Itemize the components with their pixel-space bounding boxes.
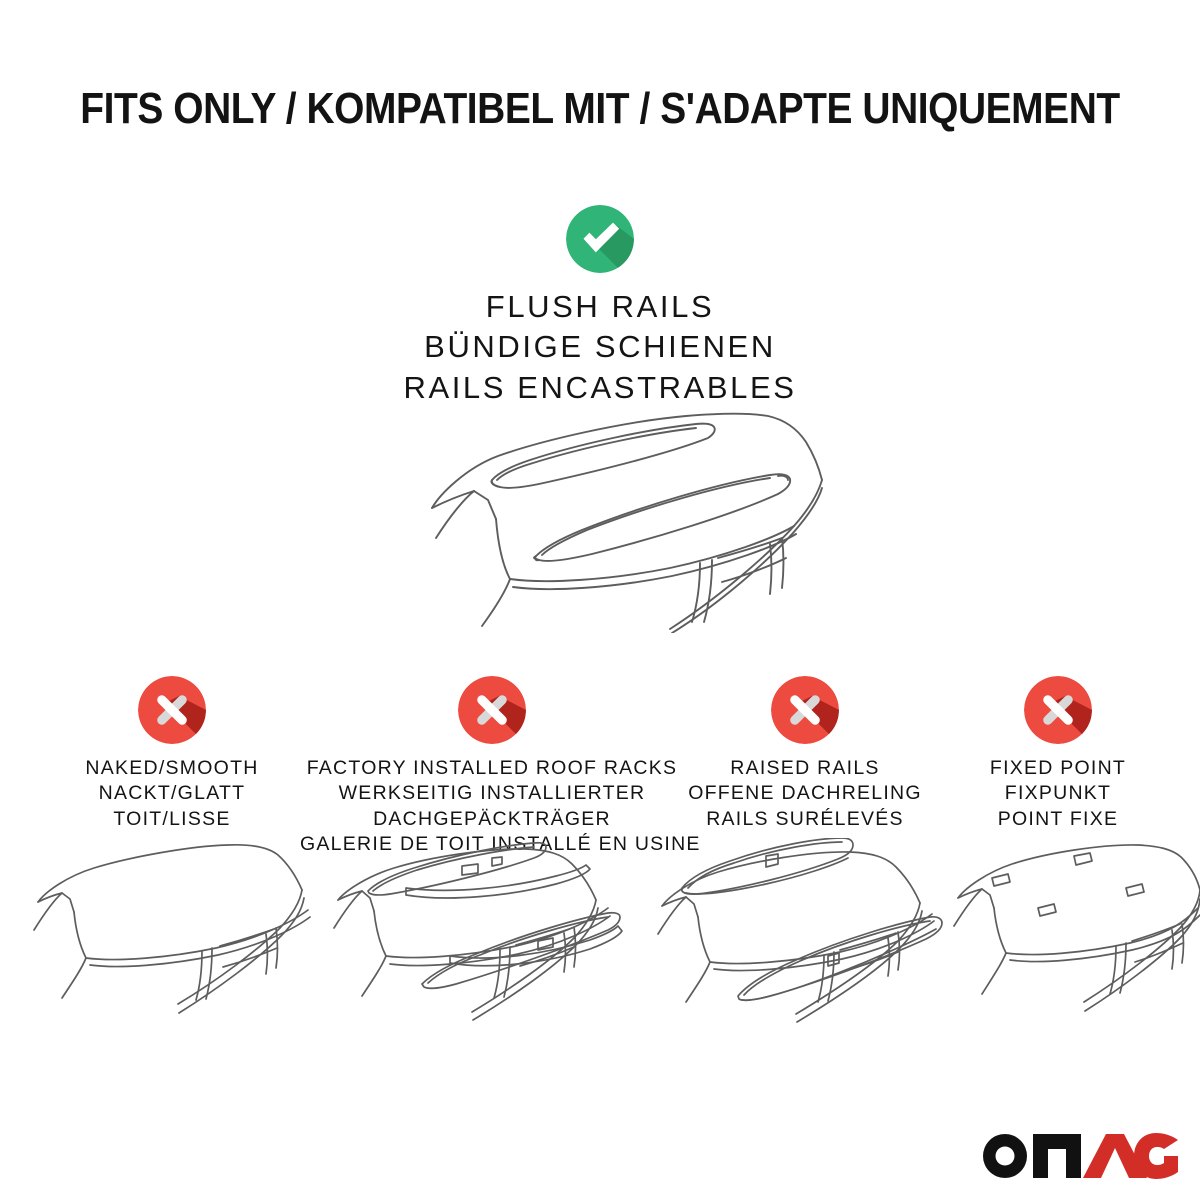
not-fits-caption: NAKED/SMOOTH NACKT/GLATT TOIT/LISSE bbox=[42, 756, 302, 832]
caption-line-en: RAISED RAILS bbox=[672, 756, 938, 781]
caption-line-de: NACKT/GLATT bbox=[42, 781, 302, 806]
caption-line-de-2: DACHGEPÄCKTRÄGER bbox=[300, 807, 684, 832]
cross-circle-icon bbox=[771, 676, 839, 744]
fits-caption: FLUSH RAILS BÜNDIGE SCHIENEN RAILS ENCAS… bbox=[0, 287, 1200, 408]
fits-section: FLUSH RAILS BÜNDIGE SCHIENEN RAILS ENCAS… bbox=[0, 205, 1200, 408]
caption-line-fr: POINT FIXE bbox=[938, 807, 1178, 832]
not-fits-item-fixed-point: FIXED POINT FIXPUNKT POINT FIXE bbox=[938, 676, 1178, 832]
caption-line-fr: TOIT/LISSE bbox=[42, 807, 302, 832]
not-fits-caption: FIXED POINT FIXPUNKT POINT FIXE bbox=[938, 756, 1178, 832]
not-fits-item-naked-smooth: NAKED/SMOOTH NACKT/GLATT TOIT/LISSE bbox=[42, 676, 302, 832]
caption-line-fr: RAILS SURÉLEVÉS bbox=[672, 807, 938, 832]
car-roof-flush-rails-illustration bbox=[370, 398, 840, 633]
cross-circle-icon bbox=[458, 676, 526, 744]
car-roof-raised-rails-illustration bbox=[642, 838, 952, 1038]
caption-line-en: FIXED POINT bbox=[938, 756, 1178, 781]
not-fits-item-raised-rails: RAISED RAILS OFFENE DACHRELING RAILS SUR… bbox=[672, 676, 938, 832]
caption-line-de: FIXPUNKT bbox=[938, 781, 1178, 806]
caption-line-en: NAKED/SMOOTH bbox=[42, 756, 302, 781]
check-circle-icon bbox=[566, 205, 634, 273]
not-fits-item-factory-installed-roof-racks: FACTORY INSTALLED ROOF RACKS WERKSEITIG … bbox=[300, 676, 684, 857]
fits-caption-line-en: FLUSH RAILS bbox=[0, 287, 1200, 327]
caption-line-de: OFFENE DACHRELING bbox=[672, 781, 938, 806]
cross-circle-icon bbox=[1024, 676, 1092, 744]
cross-circle-icon bbox=[138, 676, 206, 744]
page-title: FITS ONLY / KOMPATIBEL MIT / S'ADAPTE UN… bbox=[69, 84, 1131, 134]
fits-caption-line-de: BÜNDIGE SCHIENEN bbox=[0, 327, 1200, 367]
omac-logo bbox=[978, 1122, 1178, 1182]
car-roof-factory-roof-racks-illustration bbox=[310, 838, 630, 1038]
not-fits-caption: RAISED RAILS OFFENE DACHRELING RAILS SUR… bbox=[672, 756, 938, 832]
not-fits-section: NAKED/SMOOTH NACKT/GLATT TOIT/LISSE bbox=[0, 676, 1200, 856]
caption-line-de-1: WERKSEITIG INSTALLIERTER bbox=[300, 781, 684, 806]
car-roof-naked-smooth-illustration bbox=[20, 838, 320, 1038]
car-roof-fixed-point-illustration bbox=[950, 838, 1200, 1038]
not-fits-illustrations-row bbox=[0, 838, 1200, 1048]
caption-line-en: FACTORY INSTALLED ROOF RACKS bbox=[300, 756, 684, 781]
